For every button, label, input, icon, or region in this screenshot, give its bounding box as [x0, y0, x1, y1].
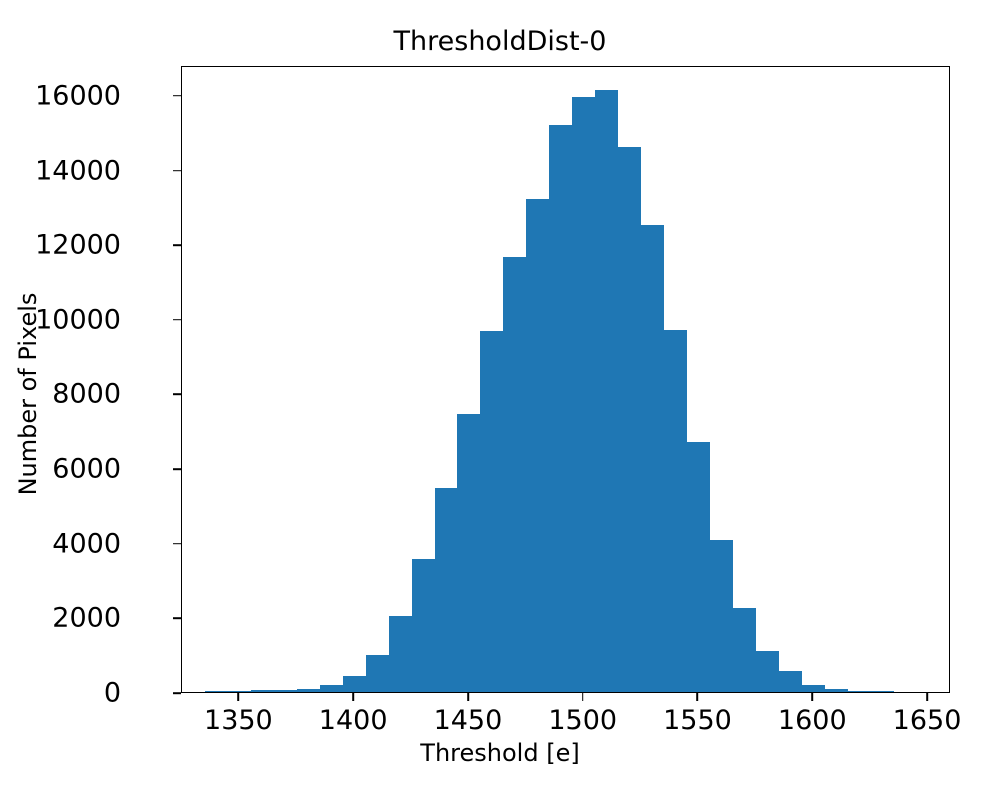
histogram-bars [182, 67, 949, 692]
histogram-bar [297, 689, 320, 692]
x-tick-label: 1600 [778, 707, 847, 734]
y-tick-label: 14000 [35, 157, 121, 184]
histogram-bar [641, 225, 664, 692]
histogram-bar [503, 257, 526, 692]
histogram-bar [457, 414, 480, 692]
y-tick-mark [173, 618, 181, 620]
histogram-bar [412, 559, 435, 692]
y-tick-mark [173, 95, 181, 97]
histogram-bar [274, 690, 297, 692]
y-tick-mark [173, 170, 181, 172]
x-tick-mark [697, 693, 699, 701]
y-tick-label: 6000 [52, 456, 121, 483]
x-tick-mark [352, 693, 354, 701]
y-tick-mark [173, 543, 181, 545]
histogram-bar [779, 671, 802, 692]
histogram-bar [572, 97, 595, 692]
histogram-bar [848, 691, 871, 692]
x-tick-mark [811, 693, 813, 701]
y-tick-mark [173, 394, 181, 396]
histogram-bar [756, 651, 779, 692]
histogram-bar [687, 442, 710, 692]
histogram-bar [618, 147, 641, 692]
x-tick-label: 1550 [663, 707, 732, 734]
histogram-bar [435, 488, 458, 692]
y-axis-label: Number of Pixels [14, 234, 42, 554]
histogram-bar [205, 691, 228, 692]
histogram-bar [366, 655, 389, 692]
x-tick-label: 1400 [319, 707, 388, 734]
x-tick-label: 1450 [434, 707, 503, 734]
histogram-bar [251, 690, 274, 692]
y-tick-mark [173, 244, 181, 246]
x-tick-mark [926, 693, 928, 701]
histogram-bar [480, 331, 503, 692]
histogram-bar [389, 616, 412, 692]
x-tick-mark [238, 693, 240, 701]
y-tick-label: 4000 [52, 530, 121, 557]
y-tick-mark [173, 468, 181, 470]
histogram-bar [343, 676, 366, 692]
x-tick-label: 1650 [893, 707, 962, 734]
histogram-bar [228, 691, 251, 692]
y-tick-label: 10000 [35, 306, 121, 333]
y-tick-label: 8000 [52, 381, 121, 408]
plot-area [181, 66, 950, 693]
y-tick-label: 2000 [52, 605, 121, 632]
histogram-bar [549, 125, 572, 692]
histogram-bar [595, 90, 618, 692]
y-tick-label: 16000 [35, 82, 121, 109]
histogram-bar [733, 608, 756, 692]
chart-figure: ThresholdDist-0 020004000600080001000012… [0, 0, 1000, 800]
histogram-bar [802, 685, 825, 692]
histogram-bar [825, 689, 848, 692]
x-tick-label: 1350 [204, 707, 273, 734]
x-tick-mark [582, 693, 584, 701]
histogram-bar [871, 691, 894, 692]
x-tick-label: 1500 [548, 707, 617, 734]
histogram-bar [664, 330, 687, 692]
x-axis-label: Threshold [e] [0, 739, 1000, 767]
histogram-bar [526, 199, 549, 692]
histogram-bar [320, 685, 343, 692]
y-tick-mark [173, 319, 181, 321]
histogram-bar [710, 540, 733, 692]
x-tick-mark [467, 693, 469, 701]
y-tick-label: 12000 [35, 232, 121, 259]
